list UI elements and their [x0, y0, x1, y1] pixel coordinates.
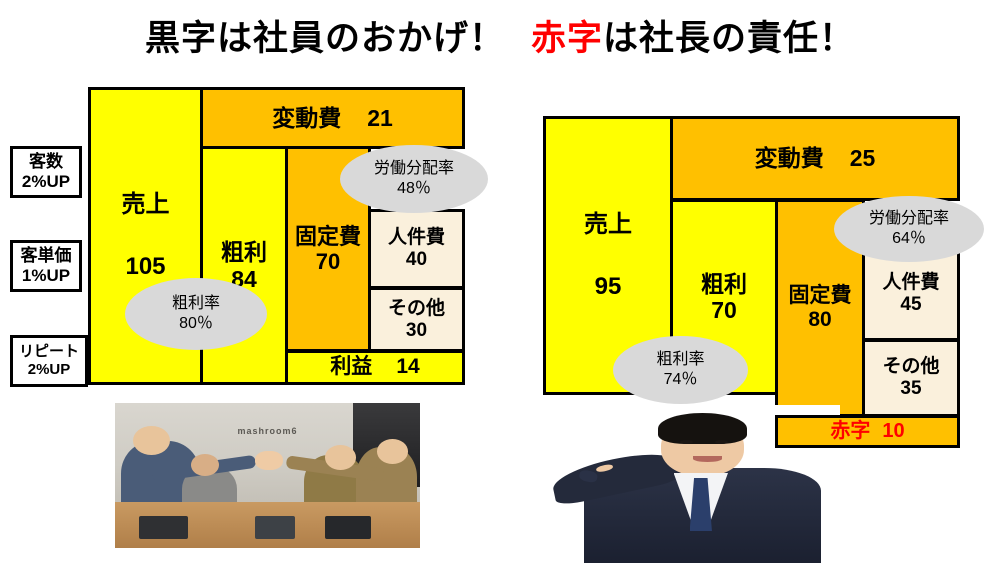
photo-head-3	[325, 445, 356, 470]
right-gross-margin-label: 粗利率	[656, 350, 704, 370]
right-personnel-cost-value: 45	[900, 294, 921, 316]
photo-laptop-3	[325, 516, 371, 539]
left-fixed-cost-value: 70	[316, 249, 340, 274]
left-other-cost-value: 30	[406, 320, 427, 342]
right-other-cost-label: その他	[882, 356, 939, 378]
left-operating-profit-value: 14	[396, 355, 419, 379]
right-deficit-box: 赤字 10	[775, 415, 960, 448]
driver-value: 1%UP	[22, 266, 70, 286]
left-operating-profit-label: 利益	[330, 355, 372, 379]
left-variable-cost-box: 変動費 21	[200, 87, 465, 149]
left-operating-profit-box: 利益 14	[285, 350, 465, 385]
man-eye-left	[680, 440, 693, 444]
left-other-cost-box: その他 30	[368, 287, 465, 352]
office-highfive-photo: mashroom6	[115, 403, 420, 548]
left-personnel-cost-box: 人件費 40	[368, 209, 465, 289]
photo-head-4	[377, 439, 408, 464]
left-fixed-cost-label: 固定費	[295, 224, 361, 249]
right-variable-cost-label: 変動費	[755, 145, 824, 171]
right-gross-profit-label: 粗利	[701, 271, 747, 297]
right-labor-share-label: 労働分配率	[869, 209, 949, 229]
driver-value: 2%UP	[28, 361, 71, 379]
right-fixed-cost-value: 80	[808, 308, 831, 332]
left-personnel-cost-label: 人件費	[388, 227, 445, 249]
left-variable-cost-label: 変動費	[272, 105, 341, 131]
photo-office-sign: mashroom6	[237, 426, 297, 436]
right-personnel-cost-label: 人件費	[882, 272, 939, 294]
right-other-cost-value: 35	[900, 378, 921, 400]
title-part-black: 黒字は社員のおかげ！	[145, 19, 505, 58]
left-sales-label: 売上	[122, 191, 170, 219]
left-gross-profit-box: 粗利 84	[200, 146, 288, 385]
photo-laptop-1	[139, 516, 188, 539]
left-other-cost-label: その他	[388, 298, 445, 320]
left-gross-profit-label: 粗利	[221, 239, 267, 265]
left-gross-margin-value: 80％	[179, 314, 213, 334]
right-labor-share-callout: 労働分配率 64％	[834, 196, 984, 262]
left-labor-share-callout: 労働分配率 48％	[340, 145, 488, 213]
right-deficit-label: 赤字	[830, 420, 870, 443]
left-labor-share-value: 48％	[397, 179, 431, 199]
page-title: 黒字は社員のおかげ！赤字は社長の責任！	[0, 10, 1000, 61]
driver-box-repeat: リピート 2%UP	[10, 335, 88, 387]
left-personnel-cost-value: 40	[406, 249, 427, 271]
photo-head-2	[191, 454, 218, 476]
driver-box-unit-price: 客単価 1%UP	[10, 240, 82, 292]
photo-laptop-2	[255, 516, 295, 539]
right-gross-margin-callout: 粗利率 74％	[613, 336, 748, 404]
man-forearm	[579, 469, 599, 484]
left-gross-margin-callout: 粗利率 80％	[125, 278, 267, 350]
right-other-cost-box: その他 35	[862, 339, 960, 417]
man-mouth	[693, 456, 722, 462]
title-part-tail: は社長の責任！	[603, 19, 855, 58]
right-deficit-value: 10	[882, 420, 904, 443]
right-gross-margin-value: 74％	[664, 370, 698, 390]
left-sales-value: 105	[125, 253, 165, 281]
title-part-red: 赤字	[531, 19, 603, 58]
driver-box-customer-count: 客数 2%UP	[10, 146, 82, 198]
slide-canvas: 黒字は社員のおかげ！赤字は社長の責任！ 客数 2%UP 客単価 1%UP リピー…	[0, 0, 1000, 563]
photo-head-1	[133, 426, 170, 455]
right-fixed-cost-label: 固定費	[789, 284, 852, 308]
right-sales-value: 95	[595, 273, 622, 301]
driver-label: 客単価	[21, 246, 72, 266]
right-variable-cost-box: 変動費 25	[670, 116, 960, 201]
right-gross-profit-value: 70	[711, 297, 737, 323]
left-gross-margin-label: 粗利率	[172, 294, 220, 314]
photo-highfive-hands	[255, 451, 282, 470]
left-variable-cost-value: 21	[367, 105, 393, 131]
right-variable-cost-value: 25	[850, 145, 876, 171]
right-labor-share-value: 64％	[892, 229, 926, 249]
right-sales-label: 売上	[584, 211, 632, 239]
driver-label: 客数	[29, 152, 63, 172]
man-hair	[658, 413, 748, 445]
left-labor-share-label: 労働分配率	[374, 159, 454, 179]
driver-value: 2%UP	[22, 172, 70, 192]
man-eye-right	[715, 440, 728, 444]
man-hand	[596, 463, 614, 473]
driver-label: リピート	[19, 343, 79, 361]
